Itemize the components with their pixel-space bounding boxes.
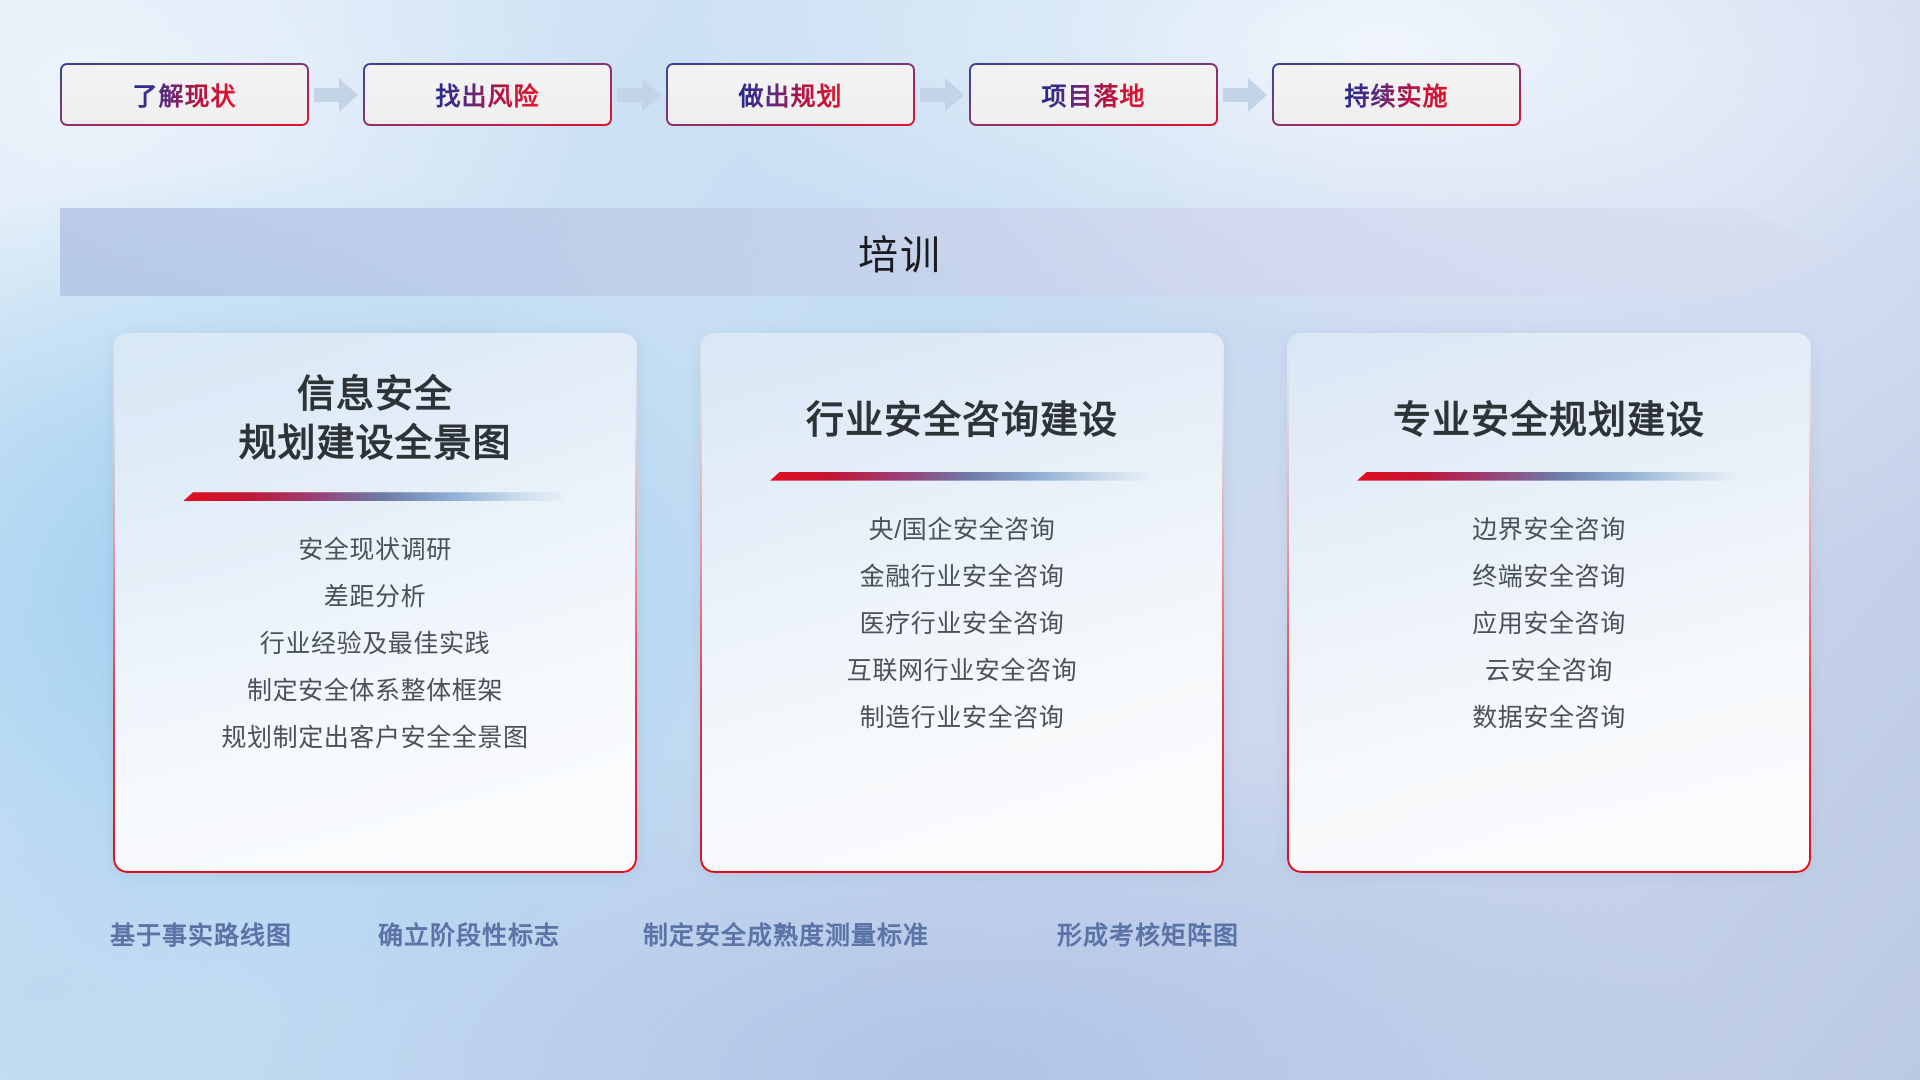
step-label: 找出风险 bbox=[435, 77, 539, 113]
outcome-captions-row: 基于事实路线图 确立阶段性标志 制定安全成熟度测量标准 形成考核矩阵图 bbox=[0, 916, 1920, 960]
list-item: 行业经验及最佳实践 bbox=[143, 621, 607, 668]
card-title: 行业安全咨询建设 bbox=[806, 397, 1118, 446]
list-item: 医疗行业安全咨询 bbox=[730, 601, 1194, 648]
list-item: 云安全咨询 bbox=[1317, 648, 1781, 695]
caption-roadmap: 基于事实路线图 bbox=[110, 916, 292, 952]
list-item: 差距分析 bbox=[143, 574, 607, 621]
card-professional-security-planning[interactable]: 专业安全规划建设 边界安全咨询 终端安全咨询 应用安全咨询 云安全咨询 数据安全… bbox=[1287, 333, 1811, 873]
card-industry-security-consulting[interactable]: 行业安全咨询建设 央/国企安全咨询 金融行业安全咨询 医疗行业安全咨询 互联网行… bbox=[700, 333, 1224, 873]
arrow-right-icon bbox=[1218, 63, 1272, 126]
list-item: 应用安全咨询 bbox=[1317, 601, 1781, 648]
slide-canvas: 了解现状 找出风险 做出规划 项目落地 bbox=[0, 0, 1920, 1080]
step-label: 项目落地 bbox=[1041, 77, 1145, 113]
card-divider bbox=[770, 472, 1154, 481]
cards-row: 信息安全 规划建设全景图 安全现状调研 差距分析 行业经验及最佳实践 制定安全体… bbox=[113, 333, 1811, 873]
list-item: 规划制定出客户安全全景图 bbox=[143, 715, 607, 762]
list-item: 制造行业安全咨询 bbox=[730, 695, 1194, 742]
arrow-right-icon bbox=[309, 63, 363, 126]
list-item: 央/国企安全咨询 bbox=[730, 507, 1194, 554]
list-item: 制定安全体系整体框架 bbox=[143, 668, 607, 715]
step-box-1[interactable]: 了解现状 bbox=[60, 63, 309, 126]
list-item: 边界安全咨询 bbox=[1317, 507, 1781, 554]
banner-title: 培训 bbox=[60, 208, 1840, 296]
list-item: 互联网行业安全咨询 bbox=[730, 648, 1194, 695]
card-item-list: 央/国企安全咨询 金融行业安全咨询 医疗行业安全咨询 互联网行业安全咨询 制造行… bbox=[730, 507, 1194, 742]
list-item: 数据安全咨询 bbox=[1317, 695, 1781, 742]
arrow-right-icon bbox=[915, 63, 969, 126]
process-steps-row: 了解现状 找出风险 做出规划 项目落地 bbox=[60, 63, 1860, 126]
step-label: 了解现状 bbox=[132, 77, 236, 113]
card-divider bbox=[1357, 472, 1741, 481]
card-title: 信息安全 规划建设全景图 bbox=[238, 371, 511, 468]
list-item: 安全现状调研 bbox=[143, 527, 607, 574]
card-divider bbox=[183, 492, 567, 501]
arrow-right-icon bbox=[612, 63, 666, 126]
card-item-list: 安全现状调研 差距分析 行业经验及最佳实践 制定安全体系整体框架 规划制定出客户… bbox=[143, 527, 607, 762]
caption-milestones: 确立阶段性标志 bbox=[378, 916, 560, 952]
step-box-5[interactable]: 持续实施 bbox=[1272, 63, 1521, 126]
card-information-security-blueprint[interactable]: 信息安全 规划建设全景图 安全现状调研 差距分析 行业经验及最佳实践 制定安全体… bbox=[113, 333, 637, 873]
card-item-list: 边界安全咨询 终端安全咨询 应用安全咨询 云安全咨询 数据安全咨询 bbox=[1317, 507, 1781, 742]
caption-assessment-matrix: 形成考核矩阵图 bbox=[1057, 916, 1239, 952]
list-item: 终端安全咨询 bbox=[1317, 554, 1781, 601]
step-label: 持续实施 bbox=[1344, 77, 1448, 113]
caption-maturity-standard: 制定安全成熟度测量标准 bbox=[643, 916, 929, 952]
step-label: 做出规划 bbox=[738, 77, 842, 113]
step-box-3[interactable]: 做出规划 bbox=[666, 63, 915, 126]
training-banner: 培训 bbox=[60, 208, 1840, 296]
card-title: 专业安全规划建设 bbox=[1393, 397, 1705, 446]
step-box-2[interactable]: 找出风险 bbox=[363, 63, 612, 126]
list-item: 金融行业安全咨询 bbox=[730, 554, 1194, 601]
step-box-4[interactable]: 项目落地 bbox=[969, 63, 1218, 126]
